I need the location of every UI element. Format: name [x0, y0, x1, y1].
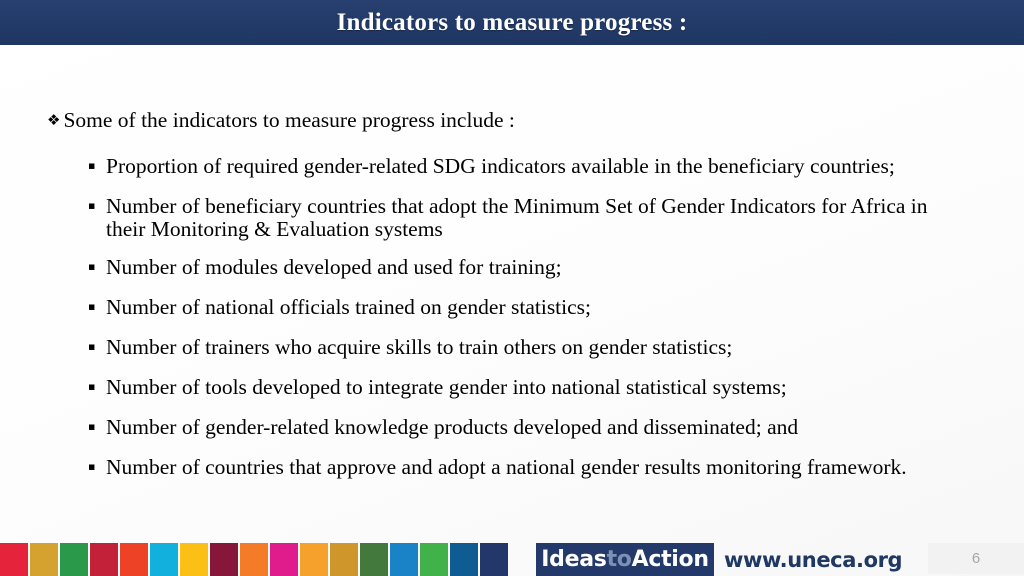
slide-footer: IdeastoAction www.uneca.org 6: [0, 528, 1024, 576]
sdg-color-square-4: [90, 543, 118, 576]
list-item: ▪ Number of countries that approve and a…: [88, 453, 938, 481]
list-item-label: Number of gender-related knowledge produ…: [106, 413, 798, 439]
list-item-label: Proportion of required gender-related SD…: [106, 152, 895, 178]
page-title: Indicators to measure progress :: [337, 9, 688, 37]
sdg-color-strip: [0, 543, 508, 576]
sdg-color-square-2: [30, 543, 58, 576]
list-item-label: Number of modules developed and used for…: [106, 253, 562, 279]
slide: Indicators to measure progress : ❖ Some …: [0, 0, 1024, 576]
list-item-label: Number of tools developed to integrate g…: [106, 373, 787, 399]
slide-title-bar: Indicators to measure progress :: [0, 0, 1024, 45]
list-item: ▪ Number of trainers who acquire skills …: [88, 333, 938, 361]
sdg-color-square-7: [180, 543, 208, 576]
logo-to-text: to: [607, 547, 632, 572]
page-number-box: 6: [928, 543, 1024, 574]
sdg-color-square-16: [450, 543, 478, 576]
list-item: ▪ Number of tools developed to integrate…: [88, 373, 938, 401]
lead-bullet-label: Some of the indicators to measure progre…: [63, 107, 514, 133]
square-bullet-icon: ▪: [88, 373, 106, 401]
sdg-color-square-12: [330, 543, 358, 576]
ideas-to-action-logo: IdeastoAction: [536, 543, 714, 576]
square-bullet-icon: ▪: [88, 253, 106, 281]
lead-bullet-item: ❖ Some of the indicators to measure prog…: [47, 107, 515, 133]
list-item-label: Number of countries that approve and ado…: [106, 453, 907, 479]
sdg-color-square-14: [390, 543, 418, 576]
sdg-color-square-1: [0, 543, 28, 576]
page-number: 6: [972, 550, 980, 567]
sdg-color-square-13: [360, 543, 388, 576]
list-item: ▪ Number of modules developed and used f…: [88, 253, 938, 281]
list-item: ▪ Number of national officials trained o…: [88, 293, 938, 321]
square-bullet-icon: ▪: [88, 192, 106, 220]
list-item: ▪ Proportion of required gender-related …: [88, 152, 938, 180]
sdg-color-square-11: [300, 543, 328, 576]
square-bullet-icon: ▪: [88, 413, 106, 441]
square-bullet-icon: ▪: [88, 453, 106, 481]
diamond-bullet-icon: ❖: [47, 107, 60, 133]
sdg-color-square-6: [150, 543, 178, 576]
list-item-label: Number of beneficiary countries that ado…: [106, 192, 934, 241]
square-bullet-icon: ▪: [88, 333, 106, 361]
sdg-color-square-5: [120, 543, 148, 576]
list-item: ▪ Number of gender-related knowledge pro…: [88, 413, 938, 441]
list-item-label: Number of national officials trained on …: [106, 293, 591, 319]
sdg-color-square-3: [60, 543, 88, 576]
sdg-color-square-8: [210, 543, 238, 576]
sdg-color-square-10: [270, 543, 298, 576]
sdg-color-square-15: [420, 543, 448, 576]
sdg-color-square-17: [480, 543, 508, 576]
sdg-color-square-9: [240, 543, 268, 576]
slide-content: ❖ Some of the indicators to measure prog…: [0, 45, 1024, 528]
uneca-website-url[interactable]: www.uneca.org: [724, 543, 902, 576]
square-bullet-icon: ▪: [88, 152, 106, 180]
logo-action-text: Action: [632, 547, 709, 572]
list-item: ▪ Number of beneficiary countries that a…: [88, 192, 938, 241]
logo-ideas-text: Ideas: [541, 547, 606, 572]
indicator-bullet-list: ▪ Proportion of required gender-related …: [88, 152, 938, 493]
list-item-label: Number of trainers who acquire skills to…: [106, 333, 732, 359]
square-bullet-icon: ▪: [88, 293, 106, 321]
